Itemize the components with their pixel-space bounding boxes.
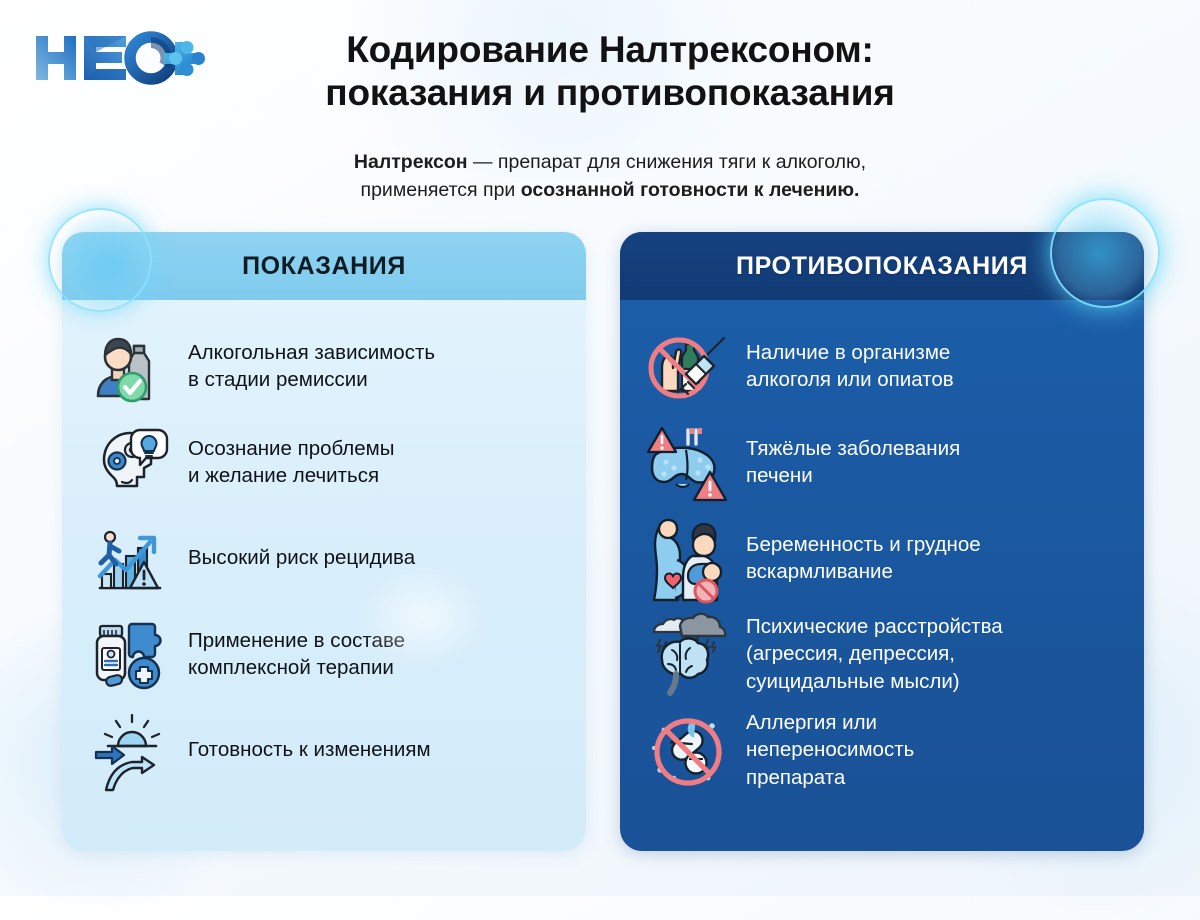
list-item-line2: печени	[746, 462, 960, 489]
contraindications-card: ПРОТИВОПОКАЗАНИЯ Наличие в организме	[620, 232, 1144, 851]
subtitle-line2-emphasis: осознанной готовности к лечению.	[521, 179, 860, 201]
list-item-line3: препарата	[746, 764, 914, 791]
list-item-line1: Высокий риск рецидива	[188, 544, 415, 571]
list-item-text: Тяжёлые заболевания печени	[746, 435, 960, 490]
list-item-line2: алкоголя или опиатов	[746, 366, 954, 393]
list-item-text: Готовность к изменениям	[188, 736, 431, 763]
list-item-text: Высокий риск рецидива	[188, 544, 415, 571]
brain-storm-cloud-icon	[646, 612, 730, 696]
list-item-text: Наличие в организме алкоголя или опиатов	[746, 339, 954, 394]
page-header: Кодирование Налтрексоном: показания и пр…	[0, 0, 1200, 215]
person-bottle-check-icon	[88, 324, 172, 408]
list-item-line1: Беременность и грудное	[746, 531, 981, 558]
list-item-line2: (агрессия, депрессия,	[746, 640, 1003, 667]
page-subtitle: Налтрексон — препарат для снижения тяги …	[215, 148, 1005, 205]
list-item-line1: Психические расстройства	[746, 613, 1003, 640]
list-item-text: Алкогольная зависимость в стадии ремисси…	[188, 339, 435, 394]
page-title-line1: Кодирование Налтрексоном:	[346, 29, 873, 70]
no-alcohol-syringe-icon	[646, 324, 730, 408]
pregnancy-breastfeeding-icon	[646, 516, 730, 600]
list-item-line2: и желание лечиться	[188, 462, 395, 489]
list-item-line1: Применение в составе	[188, 627, 405, 654]
subtitle-line1-rest: — препарат для снижения тяги к алкоголю,	[468, 151, 866, 173]
neo-plus-logo	[32, 28, 207, 88]
list-item: Беременность и грудное вскармливание	[646, 510, 1118, 606]
page-title: Кодирование Налтрексоном: показания и пр…	[215, 28, 1005, 115]
list-item-line1: Готовность к изменениям	[188, 736, 431, 763]
list-item-line2: в стадии ремиссии	[188, 366, 435, 393]
list-item: Высокий риск рецидива	[88, 510, 560, 606]
list-item: Тяжёлые заболевания печени	[646, 414, 1118, 510]
list-item: Готовность к изменениям	[88, 702, 560, 798]
list-item-text: Аллергия или непереносимость препарата	[746, 709, 914, 791]
list-item-text: Применение в составе комплексной терапии	[188, 627, 405, 682]
subtitle-line2-rest: применяется при	[361, 179, 521, 201]
list-item: Применение в составе комплексной терапии	[88, 606, 560, 702]
contraindications-list: Наличие в организме алкоголя или опиатов	[620, 300, 1144, 798]
list-item-line1: Осознание проблемы	[188, 435, 395, 462]
list-item-text: Беременность и грудное вскармливание	[746, 531, 981, 586]
no-pills-allergy-icon	[646, 708, 730, 792]
list-item-line3: суицидальные мысли)	[746, 668, 1003, 695]
list-item: Алкогольная зависимость в стадии ремисси…	[88, 318, 560, 414]
liver-warning-icon	[646, 420, 730, 504]
subtitle-drug-name: Налтрексон	[354, 151, 468, 173]
indications-list: Алкогольная зависимость в стадии ремисси…	[62, 300, 586, 798]
list-item-line2: комплексной терапии	[188, 654, 405, 681]
contraindications-card-heading: ПРОТИВОПОКАЗАНИЯ	[620, 232, 1144, 300]
head-gears-lightbulb-icon	[88, 420, 172, 504]
indications-card-heading: ПОКАЗАНИЯ	[62, 232, 586, 300]
list-item-line1: Тяжёлые заболевания	[746, 435, 960, 462]
list-item: Аллергия или непереносимость препарата	[646, 702, 1118, 798]
list-item-line2: непереносимость	[746, 736, 914, 763]
list-item-text: Психические расстройства (агрессия, депр…	[746, 613, 1003, 695]
risk-chart-warning-icon	[88, 516, 172, 600]
list-item: Психические расстройства (агрессия, депр…	[646, 606, 1118, 702]
indications-card: ПОКАЗАНИЯ Алкогольная зависимость в стад…	[62, 232, 586, 851]
pill-bottle-puzzle-cross-icon	[88, 612, 172, 696]
list-item-line1: Алкогольная зависимость	[188, 339, 435, 366]
list-item: Осознание проблемы и желание лечиться	[88, 414, 560, 510]
list-item-text: Осознание проблемы и желание лечиться	[188, 435, 395, 490]
list-item-line1: Наличие в организме	[746, 339, 954, 366]
sunrise-road-arrow-icon	[88, 708, 172, 792]
list-item-line1: Аллергия или	[746, 709, 914, 736]
list-item: Наличие в организме алкоголя или опиатов	[646, 318, 1118, 414]
page-title-line2: показания и противопоказания	[325, 72, 894, 113]
list-item-line2: вскармливание	[746, 558, 981, 585]
